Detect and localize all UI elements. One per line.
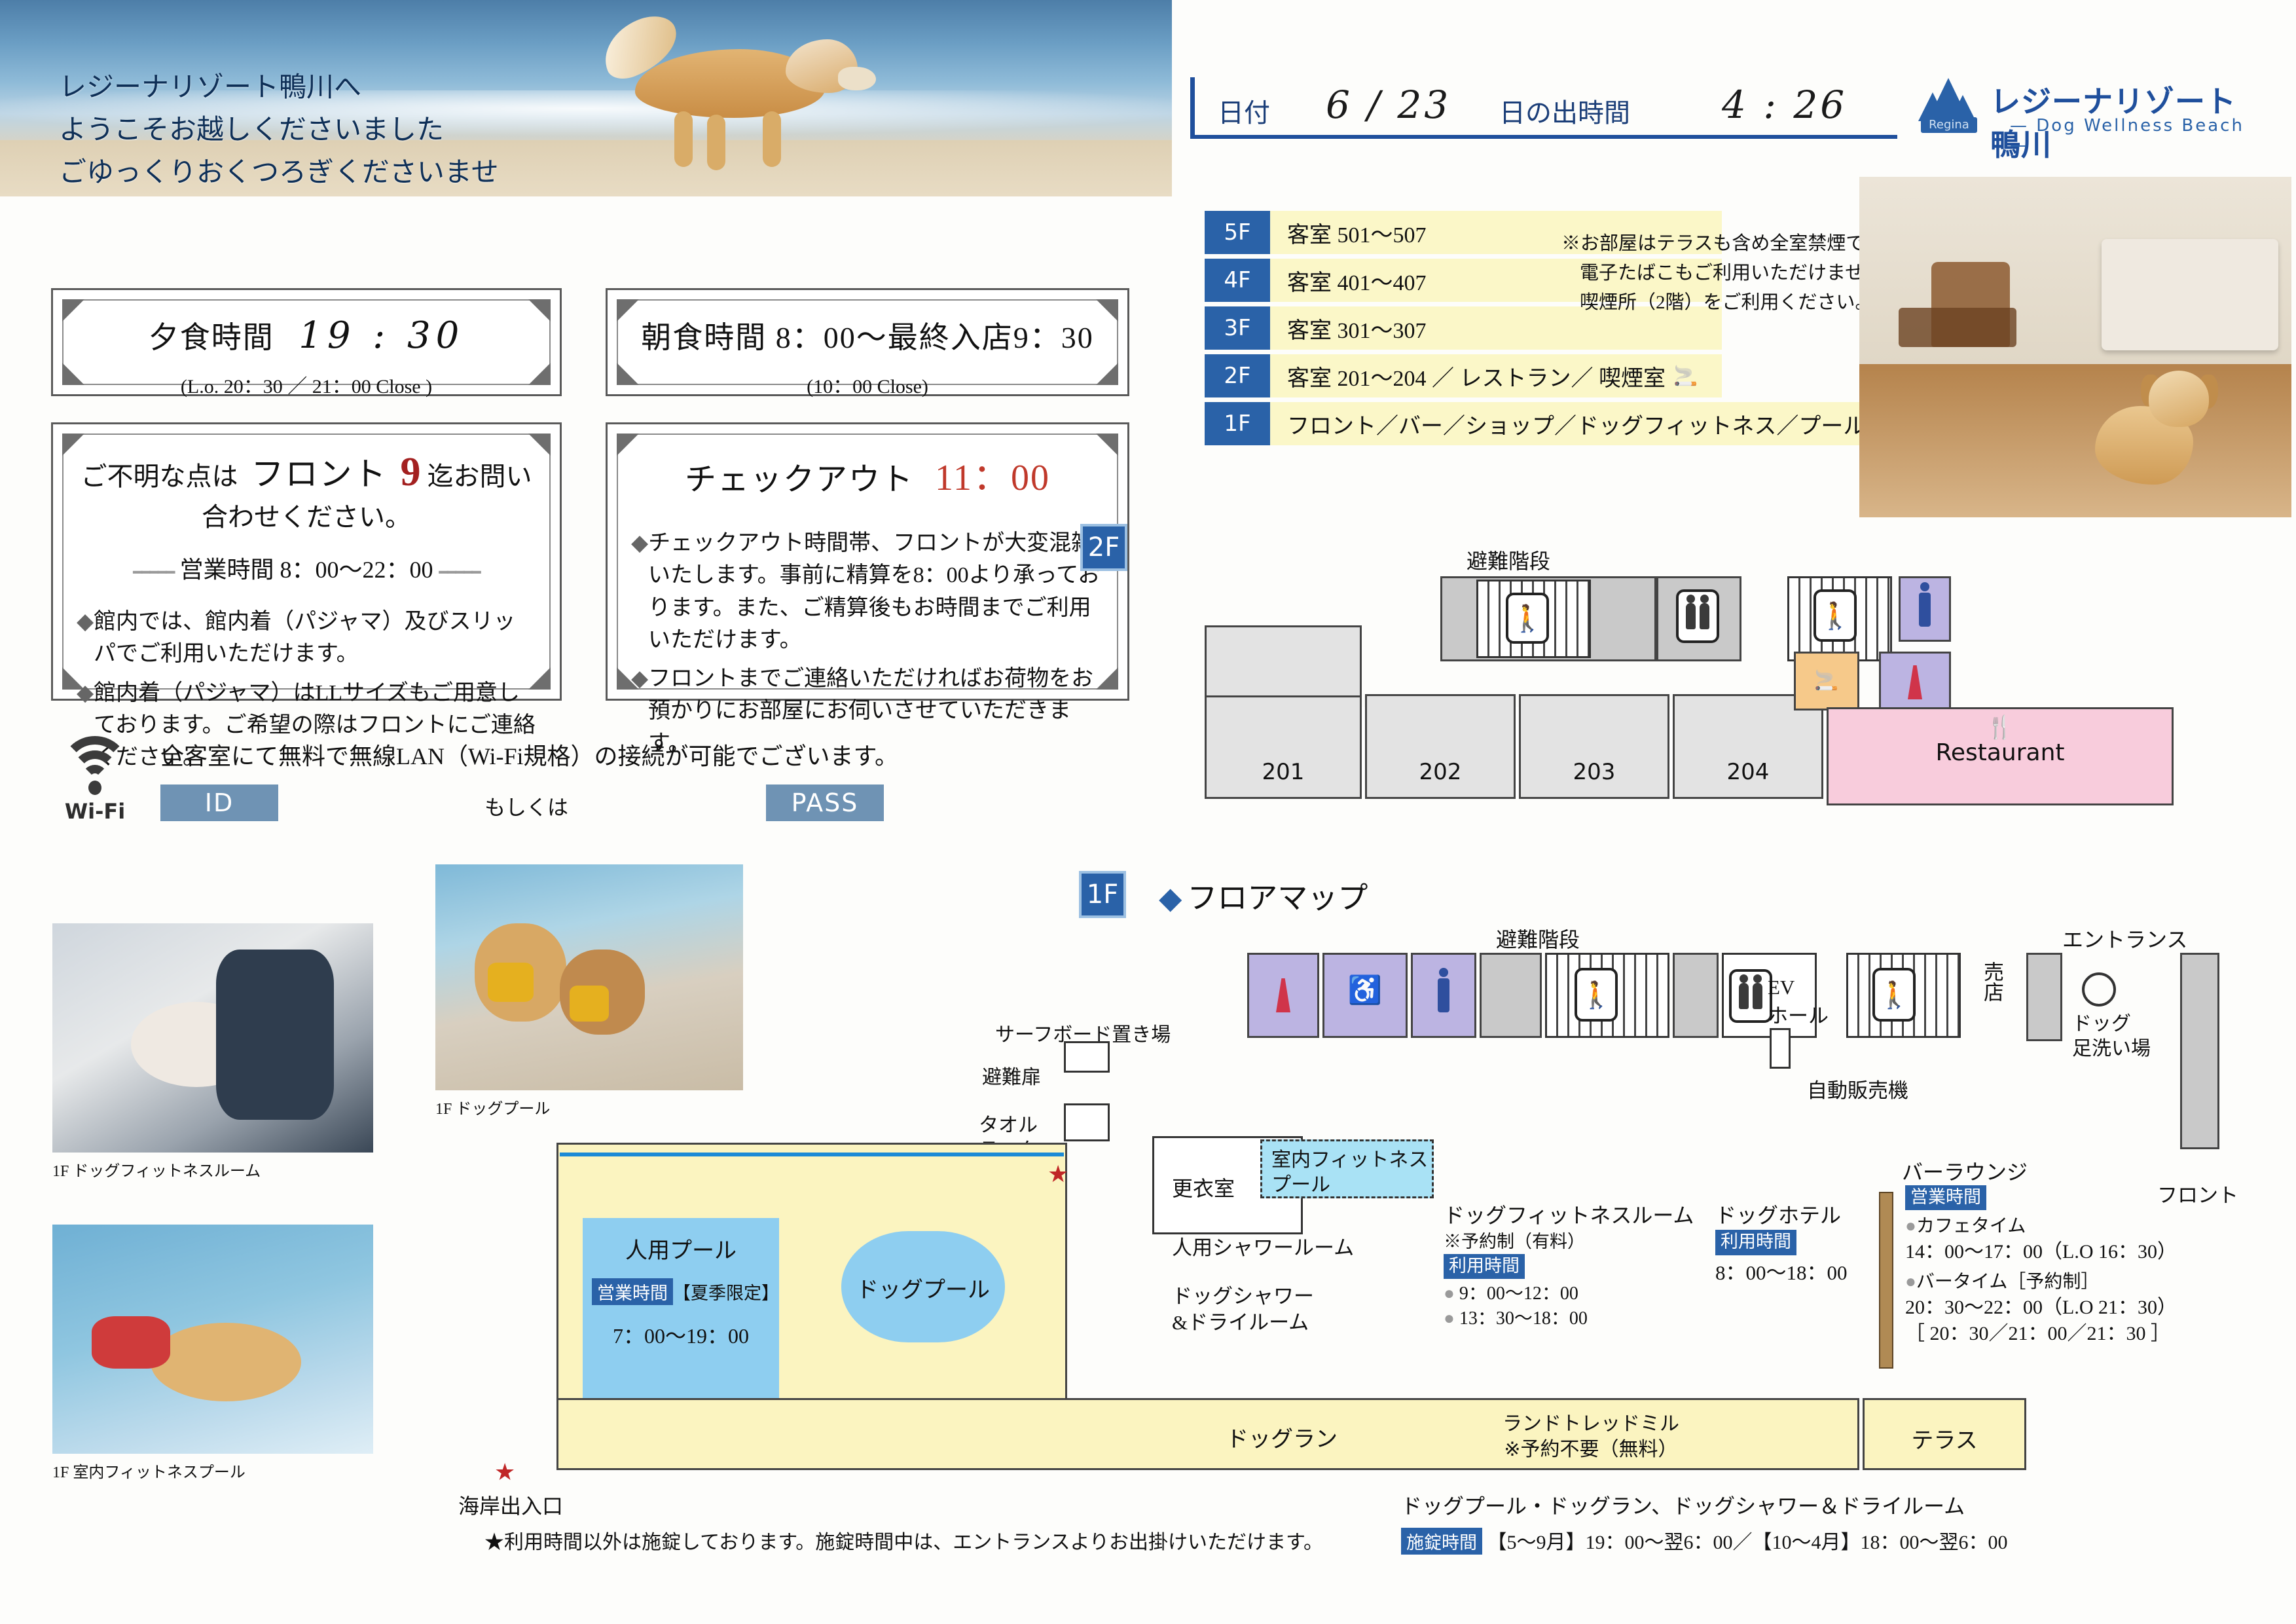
label-bar-lounge: バーラウンジ [1902, 1156, 2028, 1186]
1f-wall-block-b [1673, 953, 1719, 1038]
date-rule-vertical [1190, 77, 1195, 138]
label-indoor-fitness-pool: 室内フィットネス プール [1271, 1148, 1428, 1197]
pool-entry-star-icon: ★ [1048, 1162, 1068, 1186]
bar-time-slots: ［ 20：30／21：00／21：30 ］ [1905, 1321, 2219, 1348]
dinner-title: 夕食時間 [149, 321, 274, 354]
front-desk-bullet-1: 館内では、館内着（パジャマ）及びスリッパでご利用いただけます。 [94, 610, 515, 666]
label-dog-shower: ドッグシャワー &ドライルーム [1172, 1283, 1314, 1335]
1f-entrance-wall-right [2180, 953, 2219, 1149]
floor-badge-2f-map: 2F [1080, 524, 1127, 571]
2f-room-201: 201 [1205, 694, 1362, 799]
pool-zone-blue-line [560, 1153, 1064, 1156]
label-dog-run: ドッグラン [1226, 1421, 1338, 1453]
front-desk-pretext: ご不明な点は [81, 462, 238, 491]
1f-human-pool: 人用プール 営業時間【夏季限定】 7：00〜19：00 [583, 1218, 779, 1408]
human-pool-hours-tag: 営業時間 [592, 1278, 673, 1305]
brand-tagline: — Dog Wellness Beach — [2010, 116, 2246, 155]
breakfast-time-box: 朝食時間 8：00〜最終入店9：30 (10：00 Close) [606, 288, 1129, 396]
date-label: 日付 [1218, 92, 1270, 130]
wifi-section: Wi-Fi 全客室にて無料で無線LAN（Wi-Fi規格）の接続が可能でございます… [52, 733, 903, 832]
dog-hotel-time: 8：00〜18：00 [1715, 1259, 1879, 1287]
2f-room-202: 202 [1365, 694, 1516, 799]
1f-terrace: テラス [1863, 1398, 2026, 1470]
floor-text-3f: 客室 301〜307 [1270, 312, 1427, 344]
label-emergency-door: 避難扉 [982, 1061, 1041, 1090]
wifi-icon-label: Wi-Fi [52, 799, 137, 824]
footer-lock-text: 【5〜9月】19：00〜翌6：00／【10〜4月】18：00〜翌6：00 [1487, 1532, 2008, 1553]
dog-hotel-title: ドッグホテル [1715, 1202, 1879, 1230]
floor-text-2f: 客室 201〜204 ／ レストラン／ 喫煙室 [1270, 360, 1666, 392]
checkout-box: チェックアウト 11：00 ◆チェックアウト時間帯、フロントが大変混雑いたします… [606, 422, 1129, 701]
checkout-time: 11：00 [935, 458, 1050, 498]
floor-badge-1f-map: 1F [1079, 871, 1126, 918]
brand-logo: Regina レジーナリゾート鴨川 — Dog Wellness Beach — [1918, 75, 2246, 141]
welcome-line-3: ごゆっくりおくつろぎくださいませ [59, 151, 499, 193]
cutlery-icon: 🍴 [1986, 714, 2014, 741]
dinner-time-value: 19 : 30 [299, 314, 464, 357]
footer-star-note: ★利用時間以外は施錠しております。施錠時間中は、エントランスよりお出掛けいただけ… [484, 1526, 1323, 1555]
welcome-line-2: ようこそお越しくださいました [59, 108, 499, 151]
regina-wordmark: Regina [1921, 117, 1977, 133]
label-dog-pool: ドッグプール [841, 1272, 1005, 1304]
label-shop: 売店 [1977, 961, 2007, 1002]
sunrise-label: 日の出時間 [1499, 92, 1630, 130]
dog-hotel-hours-tag: 利用時間 [1715, 1230, 1796, 1255]
diamond-bullet-icon: ◆ [1159, 881, 1182, 915]
floor-badge-1f: 1F [1205, 402, 1270, 445]
photo-dog-fitness-room: 1F ドッグフィットネスルーム [52, 923, 373, 1153]
photo-caption-1: 1F ドッグフィットネスルーム [52, 1158, 261, 1181]
label-ev-hall: EV ホール [1768, 976, 1829, 1029]
wifi-description: 全客室にて無料で無線LAN（Wi-Fi規格）の接続が可能でございます。 [160, 737, 898, 771]
elevator-icon-1f [1729, 969, 1772, 1023]
hero-beach-photo: レジーナリゾート鴨川へ ようこそお越しくださいました ごゆっくりおくつろぎくださ… [0, 0, 1172, 196]
checkout-bullet-1: チェックアウト時間帯、フロントが大変混雑いたします。事前に精算を8：00より承っ… [648, 531, 1100, 652]
front-desk-hours: 営業時間 8：00〜22：00 [179, 557, 433, 583]
1f-surfboard-box [1064, 1041, 1110, 1073]
restaurant-label: Restaurant [1829, 739, 2172, 766]
photo-dog-pool: 1F ドッグプール [435, 864, 743, 1090]
1f-accessible-toilet: ♿ [1322, 953, 1408, 1038]
stairs-icon-1f: 🚶 [1575, 968, 1618, 1022]
1f-mens-toilet [1411, 953, 1476, 1038]
2f-room-201-upper [1205, 625, 1362, 697]
breakfast-title: 朝食時間 8：00〜最終入店9：30 [631, 314, 1104, 357]
bar-lounge-hours-info: 営業時間 ●カフェタイム 14：00〜17：00（L.O 16：30） ●バータ… [1905, 1185, 2219, 1348]
dog-fitness-room-info: ドッグフィットネスルーム ※予約制（有料） 利用時間 ● 9：00〜12：00 … [1444, 1202, 1705, 1331]
2f-room-203-number: 203 [1521, 759, 1667, 785]
hotel-info-sheet: レジーナリゾート鴨川へ ようこそお越しくださいました ごゆっくりおくつろぎくださ… [0, 0, 2296, 1624]
1f-dog-pool: ドッグプール [841, 1231, 1005, 1342]
human-pool-season: 【夏季限定】 [673, 1283, 779, 1303]
wheelchair-icon: ♿ [1348, 974, 1382, 1006]
floor-text-1f: フロント／バー／ショップ／ドッグフィットネス／プール／自販機 [1270, 408, 1954, 440]
human-pool-hours: 7：00〜19：00 [583, 1319, 779, 1350]
guest-room-photo [1859, 177, 2291, 517]
2f-room-204-number: 204 [1675, 759, 1821, 785]
footer-lock-tag: 施錠時間 [1401, 1528, 1482, 1555]
wifi-pass-chip[interactable]: PASS [766, 784, 884, 821]
floor-badge-2f: 2F [1205, 354, 1270, 397]
label-2f-emergency-stairs: 避難階段 [1467, 545, 1550, 575]
label-treadmill: ランドトレッドミル ※予約不要（無料） [1503, 1411, 1679, 1462]
dog-fitness-hours-tag: 利用時間 [1444, 1254, 1525, 1279]
cafe-time-hours: 14：00〜17：00（L.O 16：30） [1905, 1239, 2219, 1266]
photo-caption-2: 1F ドッグプール [435, 1096, 550, 1118]
label-beach-exit: 海岸出入口 [458, 1490, 563, 1520]
floor-badge-4f: 4F [1205, 259, 1270, 302]
2f-smoking-room: 🚬 [1794, 652, 1859, 710]
2f-restaurant: Restaurant 🍴 [1827, 707, 2174, 805]
cafe-time-title: カフェタイム [1916, 1216, 2026, 1236]
stairs-icon-2f-b: 🚶 [1813, 589, 1857, 642]
elevator-icon-2f [1676, 589, 1719, 643]
date-value: 6 / 23 [1326, 83, 1451, 127]
floor-map-title: ◆フロアマップ [1159, 874, 1368, 917]
dog-fitness-room-title: ドッグフィットネスルーム [1444, 1202, 1705, 1230]
photo-caption-3: 1F 室内フィットネスプール [52, 1459, 246, 1482]
2f-womens-toilet [1879, 652, 1951, 710]
mens-toilet-icon-1f [1438, 978, 1449, 1012]
1f-wall-block-a [1480, 953, 1542, 1038]
floor-badge-5f: 5F [1205, 211, 1270, 254]
label-human-pool: 人用プール [583, 1232, 779, 1264]
stairs-icon-2f: 🚶 [1506, 593, 1549, 644]
dog-wash-basin-icon [2082, 972, 2116, 1006]
front-desk-box: ご不明な点は フロント 9 迄お問い合わせください。 ━━━━━ 営業時間 8：… [51, 422, 562, 701]
1f-womens-toilet [1247, 953, 1319, 1038]
floor-row-1f: 1F フロント／バー／ショップ／ドッグフィットネス／プール／自販機 [1205, 402, 1925, 445]
beach-dog-illustration [589, 13, 871, 177]
footer-lock-title: ドッグプール・ドッグラン、ドッグシャワー＆ドライルーム [1401, 1490, 1965, 1520]
bar-lounge-hours-tag: 営業時間 [1905, 1185, 1986, 1210]
regina-mountain-icon: Regina [1918, 78, 1978, 134]
front-desk-word: フロント [251, 456, 388, 492]
dog-fitness-time-1: 9：00〜12：00 [1459, 1283, 1578, 1304]
womens-toilet-icon-1f [1276, 978, 1290, 1012]
dinner-lastorder: (L.o. 20：30 ／ 21：00 Close ) [77, 370, 536, 399]
wifi-id-chip[interactable]: ID [160, 784, 278, 821]
label-vending-machine: 自動販売機 [1807, 1074, 1908, 1103]
date-rule-horizontal [1190, 135, 1897, 139]
label-changing-room: 更衣室 [1172, 1172, 1235, 1202]
dinner-time-box: 夕食時間 19 : 30 (L.o. 20：30 ／ 21：00 Close ) [51, 288, 562, 396]
label-terrace: テラス [1865, 1422, 2024, 1454]
2f-room-203: 203 [1519, 694, 1669, 799]
floor-text-4f: 客室 401〜407 [1270, 265, 1427, 297]
dog-fitness-room-note: ※予約制（有料） [1444, 1230, 1705, 1253]
dog-fitness-time-2: 13：30〜18：00 [1459, 1308, 1588, 1329]
front-desk-extension: 9 [401, 450, 421, 494]
beach-exit-star-icon: ★ [494, 1460, 515, 1484]
floor-text-5f: 客室 501〜507 [1270, 217, 1427, 249]
photo-indoor-fitness-pool: 1F 室内フィットネスプール [52, 1225, 373, 1454]
footer-lock-line: 施錠時間 【5〜9月】19：00〜翌6：00／【10〜4月】18：00〜翌6：0… [1401, 1526, 2008, 1555]
label-1f-emergency-stairs: 避難階段 [1496, 923, 1580, 953]
welcome-message: レジーナリゾート鴨川へ ようこそお越しくださいました ごゆっくりおくつろぎくださ… [59, 65, 499, 193]
2f-room-202-number: 202 [1367, 759, 1514, 785]
2f-mens-toilet [1899, 576, 1951, 642]
label-dog-wash: ドッグ 足洗い場 [2072, 1012, 2151, 1061]
1f-vending-machine [1770, 1028, 1791, 1069]
checkout-title: チェックアウト [685, 462, 914, 497]
1f-bar-counter [1879, 1192, 1893, 1369]
label-human-shower: 人用シャワールーム [1172, 1231, 1354, 1261]
womens-toilet-icon [1908, 665, 1922, 699]
welcome-line-1: レジーナリゾート鴨川へ [59, 65, 499, 108]
floor-badge-3f: 3F [1205, 306, 1270, 350]
smoking-icon: 🚬 [1673, 365, 1698, 388]
date-sunrise-bar: 日付 6 / 23 日の出時間 4 : 26 [1178, 72, 1912, 144]
label-entrance: エントランス [2062, 923, 2187, 953]
sunrise-value: 4 : 26 [1722, 83, 1847, 127]
1f-entrance-wall-left [2026, 953, 2062, 1041]
breakfast-close: (10：00 Close) [631, 370, 1104, 399]
floor-row-2f: 2F 客室 201〜204 ／ レストラン／ 喫煙室 🚬 [1205, 354, 1722, 397]
2f-room-201-number: 201 [1207, 759, 1360, 785]
smoking-room-icon: 🚬 [1814, 669, 1838, 692]
bar-time-hours: 20：30〜22：00（L.O 21：30） [1905, 1295, 2219, 1321]
1f-indoor-fitness-pool: 室内フィットネス プール [1260, 1139, 1434, 1198]
wifi-or-text: もしくは [484, 791, 568, 821]
1f-towel-rack-box [1064, 1103, 1110, 1141]
dog-hotel-info: ドッグホテル 利用時間 8：00〜18：00 [1715, 1202, 1879, 1286]
mens-toilet-icon [1919, 593, 1931, 627]
wifi-icon: Wi-Fi [52, 733, 137, 832]
bar-time-title: バータイム［予約制］ [1916, 1272, 2099, 1292]
stairs-icon-1f-b: 🚶 [1872, 968, 1916, 1022]
